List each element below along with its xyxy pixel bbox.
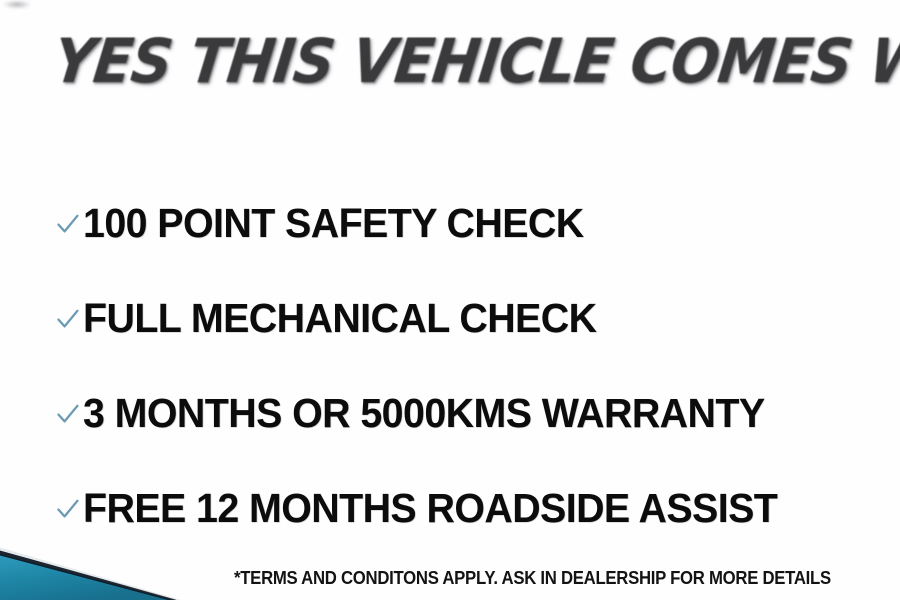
list-item-label: 100 POINT SAFETY CHECK xyxy=(83,203,584,244)
list-item: 100 POINT SAFETY CHECK xyxy=(56,176,856,271)
check-icon xyxy=(56,211,80,237)
check-icon xyxy=(56,401,80,427)
list-item-label: FULL MECHANICAL CHECK xyxy=(83,298,596,339)
page-title: YES THIS VEHICLE COMES WITH: xyxy=(54,22,854,100)
check-icon xyxy=(56,306,80,332)
vehicle-inclusions-banner: YES THIS VEHICLE COMES WITH: 100 POINT S… xyxy=(0,0,900,600)
corner-smudge-icon xyxy=(4,1,30,8)
list-item: FREE 12 MONTHS ROADSIDE ASSIST xyxy=(56,461,856,556)
disclaimer-text: *TERMS AND CONDITONS APPLY. ASK IN DEALE… xyxy=(234,569,831,587)
list-item-label: 3 MONTHS OR 5000KMS WARRANTY xyxy=(83,393,765,434)
disclaimer: *TERMS AND CONDITONS APPLY. ASK IN DEALE… xyxy=(234,569,876,589)
check-icon xyxy=(56,496,80,522)
list-item-label: FREE 12 MONTHS ROADSIDE ASSIST xyxy=(83,488,777,529)
headline-text: YES THIS VEHICLE COMES WITH: xyxy=(50,31,900,92)
feature-list: 100 POINT SAFETY CHECK FULL MECHANICAL C… xyxy=(56,176,856,556)
list-item: FULL MECHANICAL CHECK xyxy=(56,271,856,366)
list-item: 3 MONTHS OR 5000KMS WARRANTY xyxy=(56,366,856,461)
